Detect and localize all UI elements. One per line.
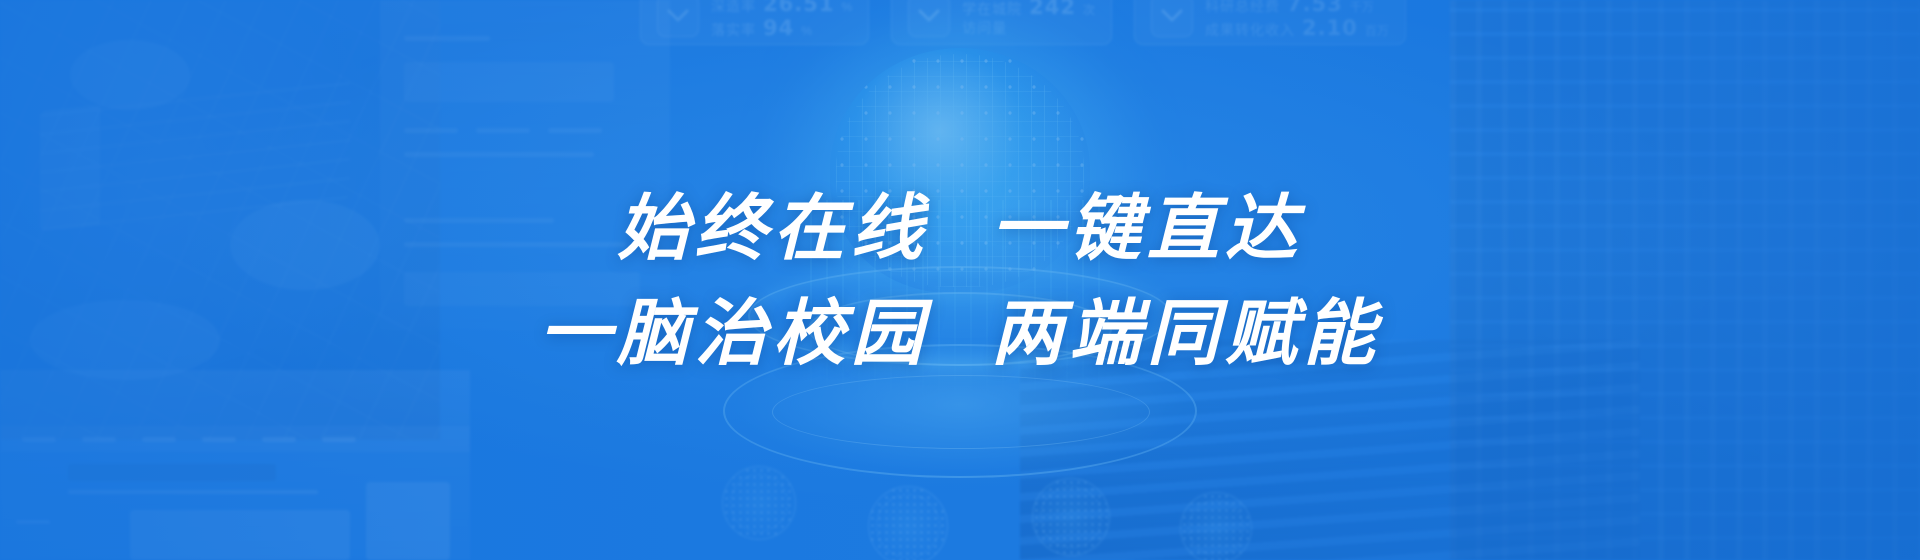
hero-headline: 始终在线 一键直达 一脑治校园 两端同赋能 xyxy=(0,178,1920,383)
hero-banner: 深造率 26.51 % 落实率 94 % 学 xyxy=(0,0,1920,560)
headline-line-1: 始终在线 一键直达 xyxy=(0,178,1920,277)
headline-line-2: 一脑治校园 两端同赋能 xyxy=(0,283,1920,382)
